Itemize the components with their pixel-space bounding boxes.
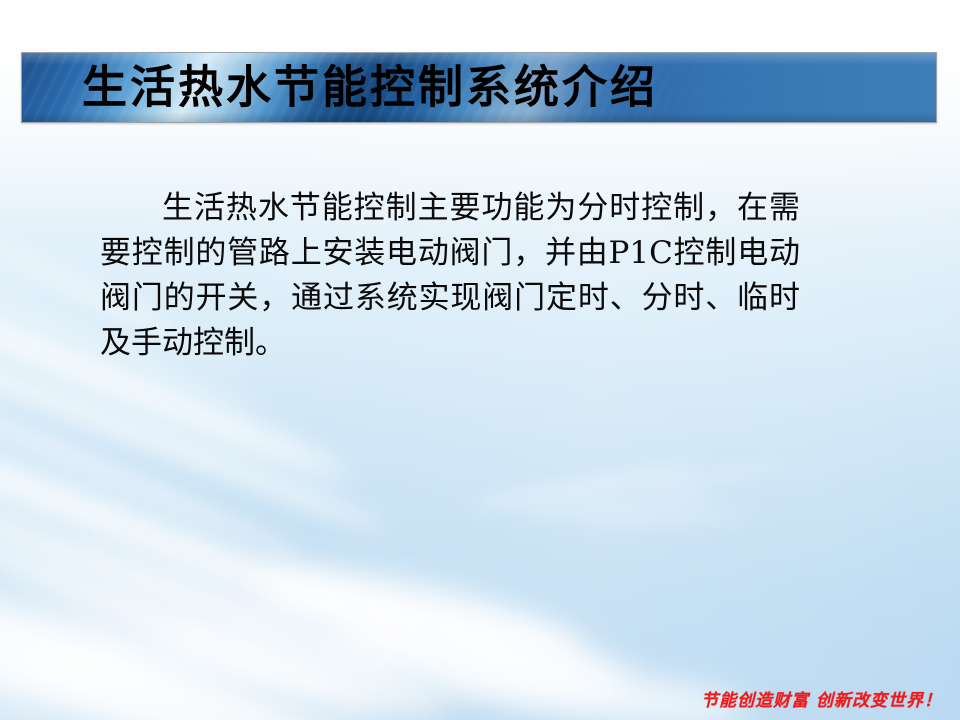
presentation-slide: 生活热水节能控制系统介绍 生活热水节能控制主要功能为分时控制，在需要控制的管路上… [0, 0, 960, 720]
page-title: 生活热水节能控制系统介绍 [82, 64, 658, 109]
slide-title-banner: 生活热水节能控制系统介绍 [21, 52, 937, 123]
footer-slogan: 节能创造财富 创新改变世界！ [701, 686, 942, 711]
cloud-haze-bottom-left [0, 520, 540, 720]
title-banner-bottom-shade [22, 112, 936, 122]
slide-body-paragraph: 生活热水节能控制主要功能为分时控制，在需要控制的管路上安装电动阀门，并由P1C控… [100, 186, 800, 366]
